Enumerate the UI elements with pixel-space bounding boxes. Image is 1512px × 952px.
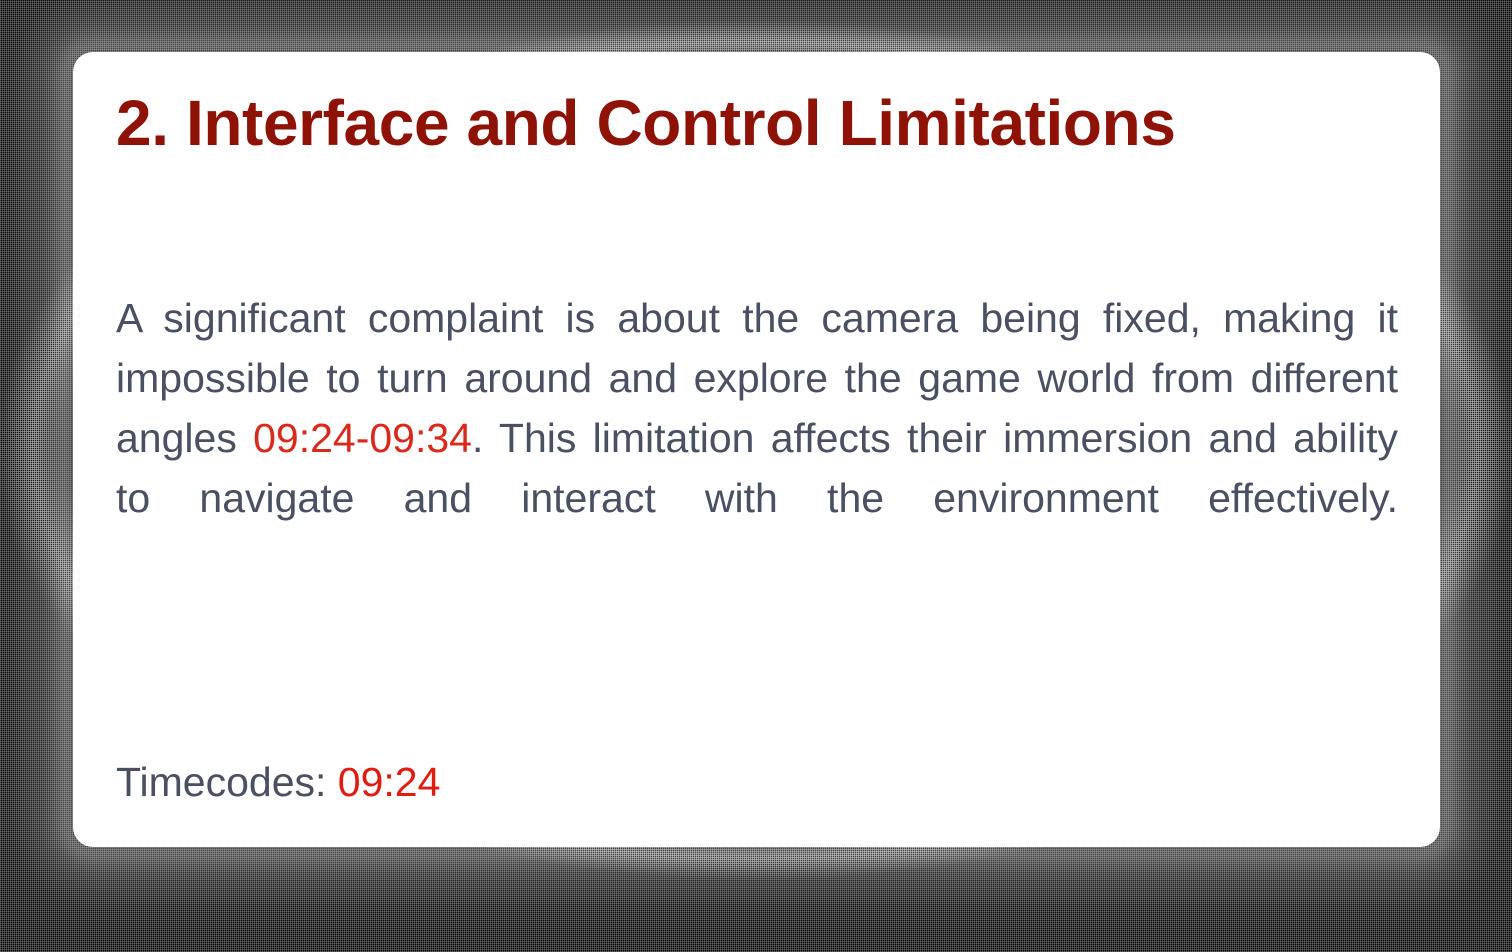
timecodes-spacer: [326, 759, 337, 805]
timecodes-label: Timecodes:: [116, 759, 326, 805]
content-card: 2. Interface and Control Limitations A s…: [73, 52, 1440, 847]
inline-timecode-range[interactable]: 09:24-09:34: [253, 415, 472, 461]
card-content-area: 2. Interface and Control Limitations A s…: [116, 52, 1397, 847]
slide-canvas: 2. Interface and Control Limitations A s…: [0, 0, 1512, 952]
page-title: 2. Interface and Control Limitations: [116, 87, 1397, 161]
timecodes-value[interactable]: 09:24: [338, 759, 441, 805]
body-paragraph: A significant complaint is about the cam…: [116, 288, 1398, 588]
timecodes-footer: Timecodes: 09:24: [116, 757, 440, 807]
